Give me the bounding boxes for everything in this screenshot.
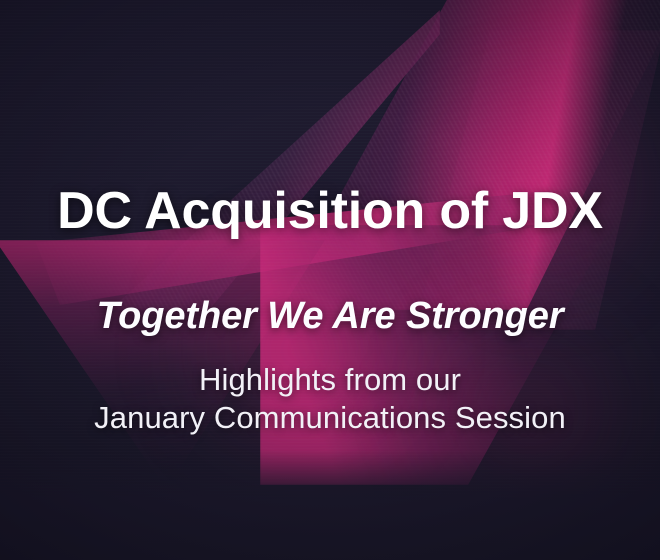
slide-tagline: Together We Are Stronger <box>0 297 660 337</box>
title-slide: DC Acquisition of JDX Together We Are St… <box>0 0 660 560</box>
text-content: DC Acquisition of JDX Together We Are St… <box>0 0 660 560</box>
slide-title: DC Acquisition of JDX <box>0 184 660 239</box>
slide-subtitle-line-2: January Communications Session <box>0 398 660 438</box>
slide-subtitle-line-1: Highlights from our <box>0 360 660 400</box>
